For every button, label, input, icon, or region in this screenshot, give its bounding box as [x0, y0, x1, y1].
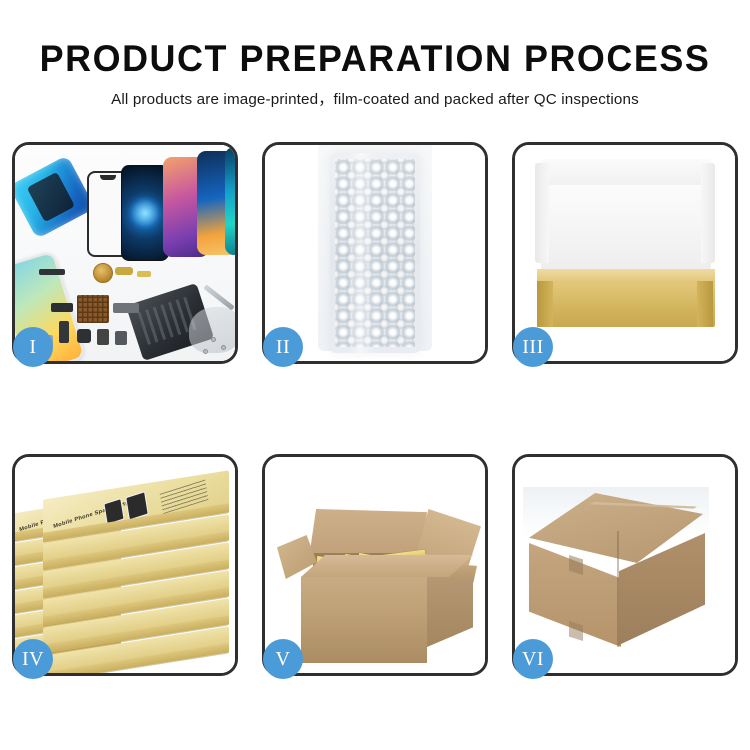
phone-screen-blue: [121, 165, 169, 261]
small-part: [59, 321, 69, 343]
phone-adhesive-film: [15, 155, 95, 239]
earpiece-part: [39, 269, 65, 275]
step-image-4: Mobile Phone Spare Parts Mobile Phone Sp…: [15, 457, 235, 673]
step-image-6: [515, 457, 735, 673]
box-corner-left: [537, 281, 553, 327]
box-lid-flap-right: [701, 163, 715, 263]
step-panel-5: V: [262, 454, 488, 676]
step-badge-2: II: [263, 327, 303, 367]
flex-cable-part: [115, 267, 133, 275]
product-preparation-infographic: PRODUCT PREPARATION PROCESS All products…: [0, 0, 750, 750]
step-badge-4: IV: [13, 639, 53, 679]
step-badge-1: I: [13, 327, 53, 367]
screw-part: [221, 345, 226, 350]
page-title: PRODUCT PREPARATION PROCESS: [11, 40, 739, 77]
step-badge-6: VI: [513, 639, 553, 679]
carton-top-rim: [301, 555, 473, 577]
small-part: [51, 303, 73, 312]
kraft-inner-box: [537, 281, 715, 327]
step-panel-2: II: [262, 142, 488, 364]
carton-side-face: [427, 577, 473, 647]
carton-vertical-edge: [617, 531, 619, 647]
bubble-wrap-illustration: [265, 145, 485, 361]
screw-part: [211, 337, 216, 342]
hand-holding-tool: [189, 307, 235, 353]
film-highlight: [348, 153, 374, 353]
box-corner-right: [697, 281, 713, 327]
step-badge-3: III: [513, 327, 553, 367]
sealed-carton-illustration: [515, 457, 735, 673]
carton-front-face: [301, 577, 427, 663]
stacked-boxes-illustration: Mobile Phone Spare Parts Mobile Phone Sp…: [15, 457, 235, 673]
small-part: [77, 329, 91, 343]
small-part: [97, 329, 109, 345]
box-lid-white: [541, 159, 711, 275]
phones-and-parts-illustration: [15, 145, 235, 361]
steps-grid: I II: [12, 142, 738, 676]
carton-loading-illustration: [265, 457, 485, 673]
step-image-1: [15, 145, 235, 361]
copper-coil-part: [93, 263, 113, 283]
flex-cable-part: [137, 271, 151, 277]
box-lid-flap-left: [535, 163, 549, 263]
step-panel-3: III: [512, 142, 738, 364]
page-subtitle: All products are image-printed，film-coat…: [0, 92, 750, 107]
bubble-wrapped-unit: [330, 153, 420, 353]
step-panel-6: VI: [512, 454, 738, 676]
connector-grid-part: [77, 295, 109, 323]
step-image-5: [265, 457, 485, 673]
header: PRODUCT PREPARATION PROCESS All products…: [0, 0, 750, 107]
step-panel-4: Mobile Phone Spare Parts Mobile Phone Sp…: [12, 454, 238, 676]
step-image-3: [515, 145, 735, 361]
inner-box-illustration: [515, 145, 735, 361]
step-badge-5: V: [263, 639, 303, 679]
small-part: [115, 331, 127, 345]
step-image-2: [265, 145, 485, 361]
screw-part: [203, 349, 208, 354]
bubble-grid-offset: [335, 159, 415, 347]
step-panel-1: I: [12, 142, 238, 364]
small-part: [113, 303, 139, 313]
phone-screen-teal: [225, 147, 235, 255]
box-stack-front: Mobile Phone Spare Parts: [43, 485, 229, 661]
